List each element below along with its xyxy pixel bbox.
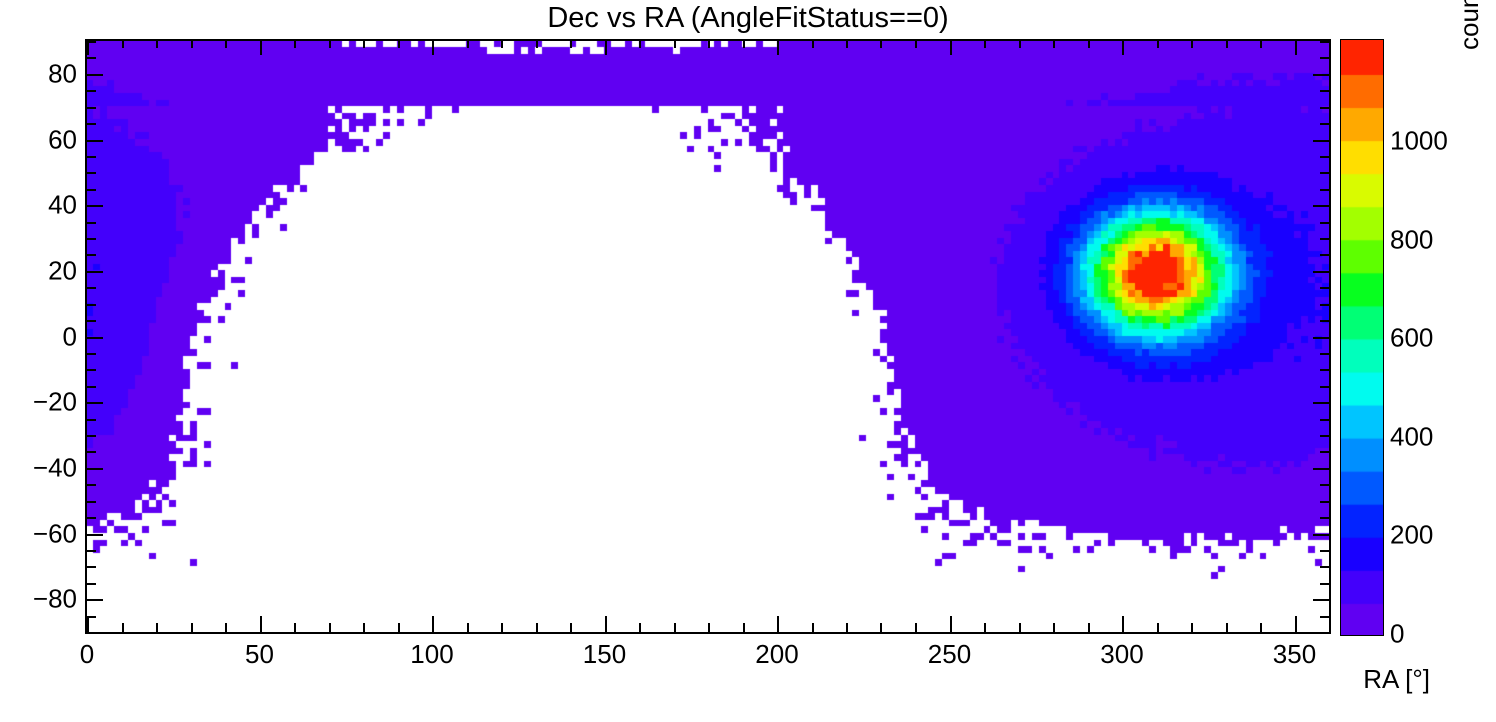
- plot-canvas-root: Dec vs RA (AngleFitStatus==0) 0501001502…: [0, 0, 1496, 722]
- x-axis-title: RA [°]: [1363, 664, 1430, 695]
- histogram-2d: [87, 41, 1329, 632]
- y-tick-label: −40: [0, 452, 77, 483]
- y-tick-label: 20: [0, 255, 77, 286]
- x-tick-label: 350: [1273, 639, 1316, 670]
- color-bar-gradient: [1341, 40, 1383, 635]
- y-tick-label: −20: [0, 387, 77, 418]
- y-tick-label: 80: [0, 58, 77, 89]
- y-tick-label: −80: [0, 584, 77, 615]
- z-tick-label: 600: [1390, 323, 1433, 354]
- z-tick-label: 200: [1390, 520, 1433, 551]
- y-tick-label: 40: [0, 190, 77, 221]
- x-tick-label: 50: [245, 639, 274, 670]
- z-tick-label: 800: [1390, 225, 1433, 256]
- x-tick-label: 250: [928, 639, 971, 670]
- color-bar[interactable]: [1340, 39, 1384, 636]
- z-tick-label: 400: [1390, 422, 1433, 453]
- z-axis-title: count: [1454, 0, 1485, 50]
- x-tick-label: 100: [410, 639, 453, 670]
- x-tick-label: 200: [755, 639, 798, 670]
- y-tick-label: 60: [0, 124, 77, 155]
- z-tick-label: 0: [1390, 619, 1404, 650]
- page-title: Dec vs RA (AngleFitStatus==0): [0, 2, 1496, 35]
- y-tick-label: −60: [0, 518, 77, 549]
- x-tick-label: 300: [1100, 639, 1143, 670]
- plot-frame: [85, 39, 1331, 634]
- z-tick-label: 1000: [1390, 126, 1448, 157]
- y-tick-label: 0: [0, 321, 77, 352]
- x-tick-label: 0: [80, 639, 94, 670]
- x-tick-label: 150: [583, 639, 626, 670]
